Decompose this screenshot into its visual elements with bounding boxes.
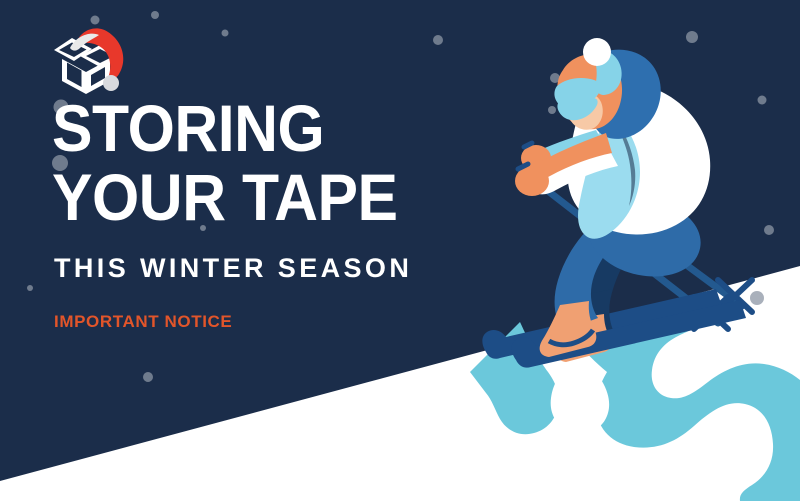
open-box-with-santa-hat-logo bbox=[46, 26, 146, 98]
page-title-line-1: STORING bbox=[52, 96, 448, 161]
winter-promo-banner: STORING YOUR TAPE THIS WINTER SEASON IMP… bbox=[0, 0, 800, 501]
santa-hat-pompom bbox=[103, 75, 119, 91]
page-title-line-2: YOUR TAPE bbox=[52, 165, 448, 230]
subheadline: THIS WINTER SEASON bbox=[54, 253, 482, 284]
headline-text-block: STORING YOUR TAPE THIS WINTER SEASON IMP… bbox=[52, 96, 482, 332]
important-notice-label: IMPORTANT NOTICE bbox=[54, 312, 482, 332]
